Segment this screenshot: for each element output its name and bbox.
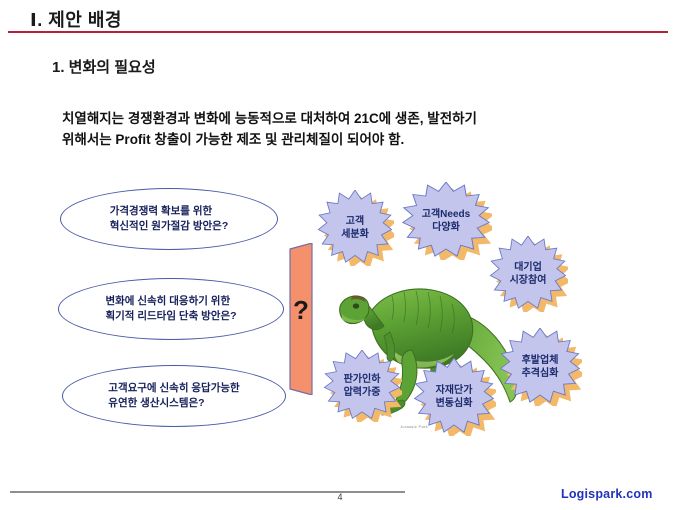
- presentation-slide: Ⅰ. 제안 배경 1. 변화의 필요성 치열해지는 경쟁환경과 변화에 능동적으…: [0, 0, 680, 510]
- starburst-material-price[interactable]: 자재단가 변동심화: [412, 358, 496, 436]
- page-number: 4: [320, 492, 360, 502]
- question-line-1: 고객요구에 신속히 응답가능한: [108, 381, 239, 396]
- question-line-1: 변화에 신속히 대응하기 위한: [105, 294, 236, 309]
- question-text: 고객요구에 신속히 응답가능한 유연한 생산시스템은?: [108, 381, 239, 411]
- starburst-price-cut-pressure[interactable]: 판가인하 압력가중: [322, 350, 402, 422]
- starburst-follower-pursuit[interactable]: 후발업체 추격심화: [498, 328, 582, 406]
- question-text: 가격경쟁력 확보를 위한 혁신적인 원가절감 방안은?: [110, 204, 229, 234]
- body-paragraph: 치열해지는 경쟁환경과 변화에 능동적으로 대처하여 21C에 생존, 발전하기…: [62, 108, 642, 150]
- question-line-2: 획기적 리드타임 단축 방안은?: [105, 309, 236, 324]
- starburst-customer-needs[interactable]: 고객Needs 다양화: [400, 182, 492, 260]
- page-title: Ⅰ. 제안 배경: [30, 6, 122, 32]
- question-ellipse-lead-time[interactable]: 변화에 신속히 대응하기 위한 획기적 리드타임 단축 방안은?: [58, 278, 284, 340]
- question-line-1: 가격경쟁력 확보를 위한: [110, 204, 229, 219]
- question-mark-symbol: ?: [286, 297, 316, 323]
- brand-logo: Logispark.com: [561, 487, 653, 501]
- starburst-customer-segmentation[interactable]: 고객 세분화: [316, 190, 394, 266]
- section-heading: 1. 변화의 필요성: [52, 56, 156, 77]
- question-ellipse-flexible-production[interactable]: 고객요구에 신속히 응답가능한 유연한 생산시스템은?: [62, 365, 286, 427]
- question-text: 변화에 신속히 대응하기 위한 획기적 리드타임 단축 방안은?: [105, 294, 236, 324]
- question-line-2: 혁신적인 원가절감 방안은?: [110, 219, 229, 234]
- body-line-2: 위해서는 Profit 창출이 가능한 제조 및 관리체질이 되어야 함.: [62, 129, 642, 150]
- title-divider: [8, 31, 668, 33]
- body-line-1: 치열해지는 경쟁환경과 변화에 능동적으로 대처하여 21C에 생존, 발전하기: [62, 108, 642, 129]
- starburst-large-corp-entry[interactable]: 대기업 시장참여: [488, 236, 568, 312]
- question-ellipse-cost-reduction[interactable]: 가격경쟁력 확보를 위한 혁신적인 원가절감 방안은?: [60, 188, 278, 250]
- question-line-2: 유연한 생산시스템은?: [108, 396, 239, 411]
